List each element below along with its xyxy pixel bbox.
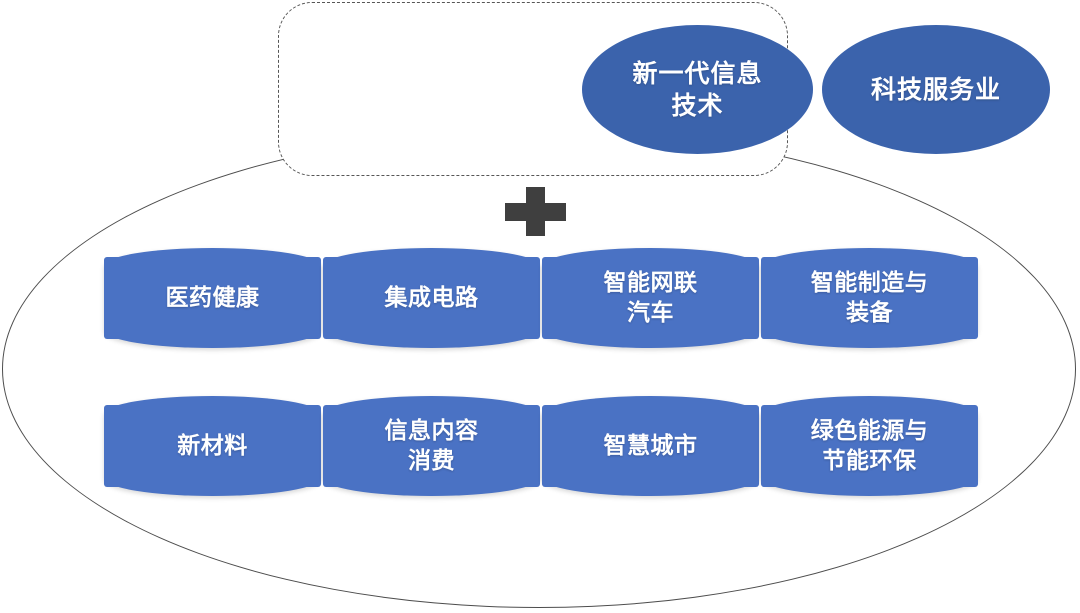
industry-box-label-line2: 装备 bbox=[846, 299, 893, 325]
industry-row-2: 新材料 信息内容消费 智慧城市 绿色能源与节能环保 bbox=[104, 396, 976, 496]
industry-box-label: 智能制造与装备 bbox=[761, 248, 978, 348]
industry-row-1: 医药健康 集成电路 智能网联汽车 智能制造与装备 bbox=[104, 248, 976, 348]
industry-box-label-line1: 医药健康 bbox=[166, 284, 260, 310]
industry-box-label-line2: 节能环保 bbox=[823, 447, 917, 473]
industry-box-label-line2: 消费 bbox=[408, 447, 455, 473]
top-ellipse-label: 新一代信息技术 bbox=[610, 58, 784, 122]
top-ellipse-new-generation-it[interactable]: 新一代信息技术 bbox=[582, 25, 813, 154]
industry-box-new-materials[interactable]: 新材料 bbox=[104, 396, 321, 496]
industry-box-label: 智能网联汽车 bbox=[542, 248, 759, 348]
industry-box-label-line1: 智能网联 bbox=[604, 269, 698, 295]
industry-box-intelligent-connected-vehicles[interactable]: 智能网联汽车 bbox=[542, 248, 759, 348]
industry-box-label: 新材料 bbox=[104, 396, 321, 496]
top-ellipse-tech-services[interactable]: 科技服务业 bbox=[822, 25, 1050, 154]
dashed-group-container: 新一代信息技术 科技服务业 bbox=[278, 2, 788, 176]
industry-box-smart-city[interactable]: 智慧城市 bbox=[542, 396, 759, 496]
industry-box-label: 集成电路 bbox=[323, 248, 540, 348]
plus-icon bbox=[505, 187, 566, 236]
plus-icon-vertical-bar bbox=[526, 187, 545, 236]
top-ellipse-label-line1: 新一代信息 bbox=[632, 60, 762, 88]
industry-box-label-line2: 汽车 bbox=[627, 299, 674, 325]
top-ellipse-label-line2: 技术 bbox=[671, 92, 723, 120]
industry-box-label-line1: 信息内容 bbox=[385, 417, 479, 443]
top-ellipse-label-line1: 科技服务业 bbox=[871, 76, 1001, 104]
industry-box-label: 绿色能源与节能环保 bbox=[761, 396, 978, 496]
industry-box-label-line1: 绿色能源与 bbox=[811, 417, 929, 443]
diagram-canvas: 新一代信息技术 科技服务业 医药健康 集成电路 智能网联汽车 智能制造与装备 bbox=[0, 0, 1080, 613]
industry-box-medicine-health[interactable]: 医药健康 bbox=[104, 248, 321, 348]
industry-box-label-line1: 新材料 bbox=[177, 432, 248, 458]
industry-box-label: 智慧城市 bbox=[542, 396, 759, 496]
industry-box-label: 医药健康 bbox=[104, 248, 321, 348]
industry-box-integrated-circuits[interactable]: 集成电路 bbox=[323, 248, 540, 348]
industry-box-smart-manufacturing-equipment[interactable]: 智能制造与装备 bbox=[761, 248, 978, 348]
industry-box-label-line1: 智能制造与 bbox=[811, 269, 929, 295]
industry-box-label-line1: 智慧城市 bbox=[604, 432, 698, 458]
industry-box-green-energy-conservation[interactable]: 绿色能源与节能环保 bbox=[761, 396, 978, 496]
industry-box-label: 信息内容消费 bbox=[323, 396, 540, 496]
industry-box-information-content-consumption[interactable]: 信息内容消费 bbox=[323, 396, 540, 496]
industry-box-label-line1: 集成电路 bbox=[385, 284, 479, 310]
top-ellipse-label: 科技服务业 bbox=[849, 74, 1023, 106]
